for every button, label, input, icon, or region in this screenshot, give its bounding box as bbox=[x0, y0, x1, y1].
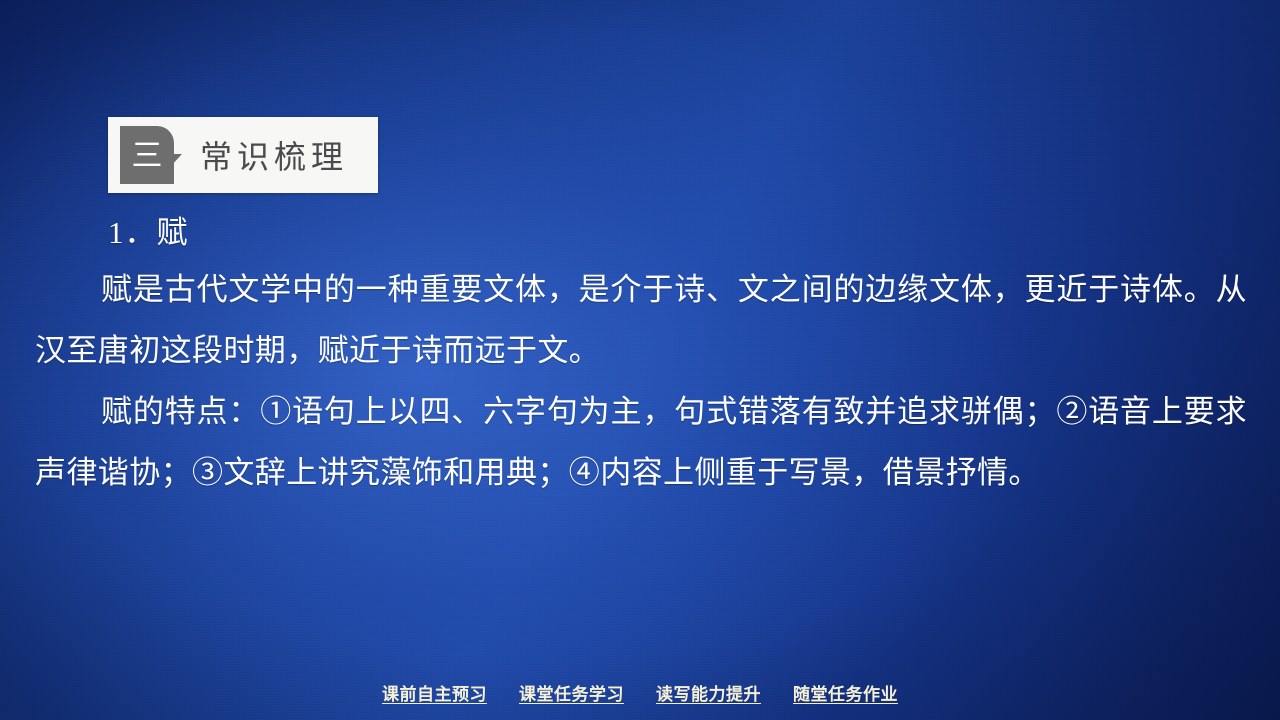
footer-nav: 课前自主预习 课堂任务学习 读写能力提升 随堂任务作业 bbox=[0, 680, 1280, 705]
section-header-panel: 三 常识梳理 bbox=[108, 117, 378, 193]
body-paragraph-2: 赋的特点：①语句上以四、六字句为主，句式错落有致并追求骈偶；②语音上要求声律谐协… bbox=[35, 381, 1247, 503]
badge-number-label: 三 bbox=[120, 126, 174, 184]
footer-link-classroom-task[interactable]: 课堂任务学习 bbox=[519, 680, 624, 705]
section-title: 常识梳理 bbox=[200, 132, 348, 178]
body-paragraph-1: 赋是古代文学中的一种重要文体，是介于诗、文之间的边缘文体，更近于诗体。从汉至唐初… bbox=[35, 259, 1247, 381]
footer-link-preview[interactable]: 课前自主预习 bbox=[382, 680, 487, 705]
slide-body: 1．赋 赋是古代文学中的一种重要文体，是介于诗、文之间的边缘文体，更近于诗体。从… bbox=[35, 207, 1247, 503]
numbered-badge-icon: 三 bbox=[120, 126, 182, 184]
item-heading: 1．赋 bbox=[35, 207, 1247, 259]
footer-link-homework[interactable]: 随堂任务作业 bbox=[793, 680, 898, 705]
footer-link-reading-writing[interactable]: 读写能力提升 bbox=[656, 680, 761, 705]
